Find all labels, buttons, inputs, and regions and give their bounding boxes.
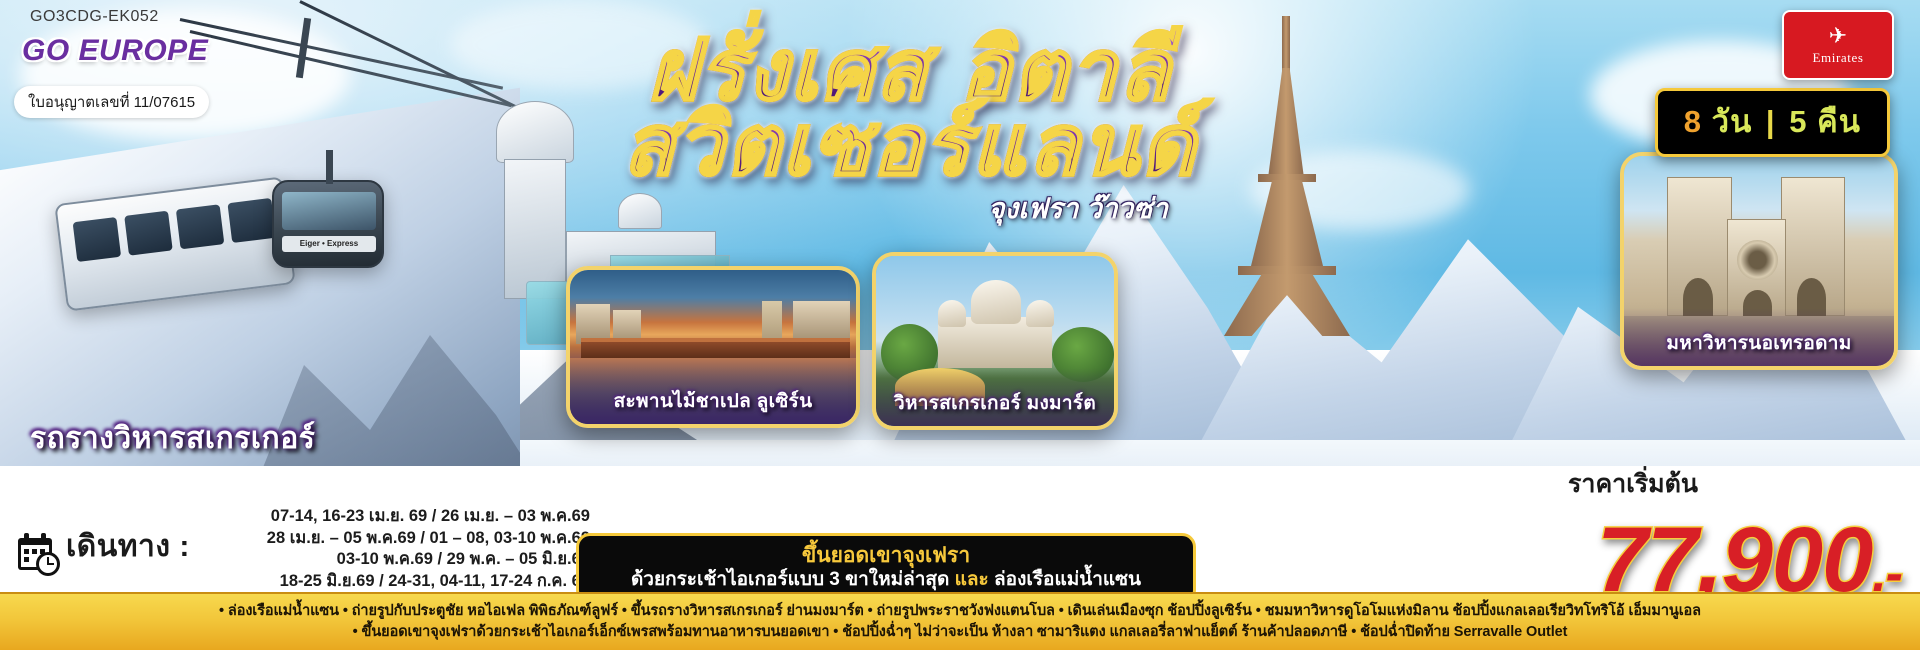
basilica-side-dome (938, 300, 967, 327)
tram-caption: รถรางวิหารสเกรเกอร์ (30, 415, 315, 462)
gondola-label: Eiger • Express (282, 236, 376, 252)
photo-card-notre-dame: มหาวิหารนอเทรอดาม (1620, 152, 1898, 370)
departure-date-line: 07-14, 16-23 เม.ย. 69 / 26 เม.ย. – 03 พ.… (190, 506, 590, 527)
price-from-label: ราคาเริ่มต้น (1568, 464, 1698, 504)
brand-title: GO EUROPE (22, 34, 208, 68)
highlight-line-2: ด้วยกระเช้าไอเกอร์แบบ 3 ขาใหม่ล่าสุด และ… (597, 568, 1175, 592)
airline-icon: ✈ (1829, 25, 1847, 47)
eiffel-mid (1250, 180, 1324, 270)
duration-days-number: 8 (1684, 104, 1702, 139)
eiger-express-gondola: Eiger • Express (272, 180, 384, 268)
basilica-dome (971, 280, 1021, 324)
train-window (124, 211, 173, 256)
train-window (227, 198, 276, 243)
departure-date-line: 03-10 พ.ค.69 / 29 พ.ค. – 05 มิ.ย.69 (190, 549, 590, 570)
card-caption-lucerne: สะพานไม้ชาเปล ลูเซิร์น (570, 386, 856, 416)
eiffel-base (1224, 274, 1350, 336)
highlight-line-1: ขึ้นยอดเขาจุงเฟรา (597, 543, 1175, 569)
eiffel-platform (1238, 266, 1336, 275)
chapel-bridge (581, 338, 850, 358)
duration-badge: 8 วัน | 5 คืน (1655, 88, 1890, 157)
eiffel-upper (1268, 68, 1304, 178)
rose-window (1737, 240, 1778, 280)
duration-separator: | (1766, 104, 1776, 139)
photo-card-lucerne: สะพานไม้ชาเปล ลูเซิร์น (566, 266, 860, 428)
eiffel-tower (1218, 16, 1358, 336)
departure-date-line: 28 เม.ย. – 05 พ.ค.69 / 01 – 08, 03-10 พ.… (190, 528, 590, 549)
basilica-side-dome (1026, 300, 1055, 327)
title-subtitle: จุงเฟรา ว๊าวซ่า (600, 187, 1220, 231)
gondola-hanger (326, 150, 333, 184)
duration-nights-text: 5 คืน (1789, 104, 1861, 139)
highlight-line-2-pre: ด้วยกระเช้าไอเกอร์แบบ 3 ขาใหม่ล่าสุด (631, 569, 949, 590)
card-caption-notre-dame: มหาวิหารนอเทรอดาม (1624, 328, 1894, 358)
departure-label: เดินทาง : (66, 523, 190, 570)
footer-line-1: • ล่องเรือแม่น้ำแซน • ถ่ายรูปกับประตูชัย… (219, 601, 1701, 622)
eiffel-spire (1282, 16, 1290, 72)
footer-line-2: • ขึ้นยอดเขาจุงเฟราด้วยกระเช้าไอเกอร์เอ็… (353, 622, 1568, 643)
product-code: GO3CDG-EK052 (30, 8, 159, 26)
title-line-2: สวิตเซอร์แลนด์ (600, 105, 1220, 186)
license-badge: ใบอนุญาตเลขที่ 11/07615 (14, 86, 209, 118)
observatory-tower (504, 159, 566, 299)
train-window (176, 204, 225, 249)
observatory-dome (496, 101, 574, 163)
photo-card-sacre-coeur: วิหารสเกรเกอร์ มงมาร์ต (872, 252, 1118, 430)
footer-highlights: • ล่องเรือแม่น้ำแซน • ถ่ายรูปกับประตูชัย… (0, 592, 1920, 650)
duration-days-text: วัน (1712, 104, 1753, 139)
highlight-line-2-post: ล่องเรือแม่น้ำแซน (994, 569, 1141, 590)
main-title-block: ฝรั่งเศส อิตาลี สวิตเซอร์แลนด์ จุงเฟรา ว… (600, 30, 1220, 231)
departure-date-line: 18-25 มิ.ย.69 / 24-31, 04-11, 17-24 ก.ค.… (190, 571, 590, 592)
travel-banner: Eiger • Express GO3CDG-EK052 GO EUROPE ใ… (0, 0, 1920, 650)
airline-name: Emirates (1812, 50, 1863, 66)
card-caption-sacre-coeur: วิหารสเกรเกอร์ มงมาร์ต (876, 388, 1114, 418)
highlight-line-2-mid: และ (949, 569, 994, 590)
train-window (73, 217, 122, 262)
departure-dates: 07-14, 16-23 เม.ย. 69 / 26 เม.ย. – 03 พ.… (190, 506, 590, 592)
gondola-window (282, 192, 376, 230)
calendar-clock-icon (16, 532, 62, 578)
emirates-logo: ✈ Emirates (1782, 10, 1894, 80)
